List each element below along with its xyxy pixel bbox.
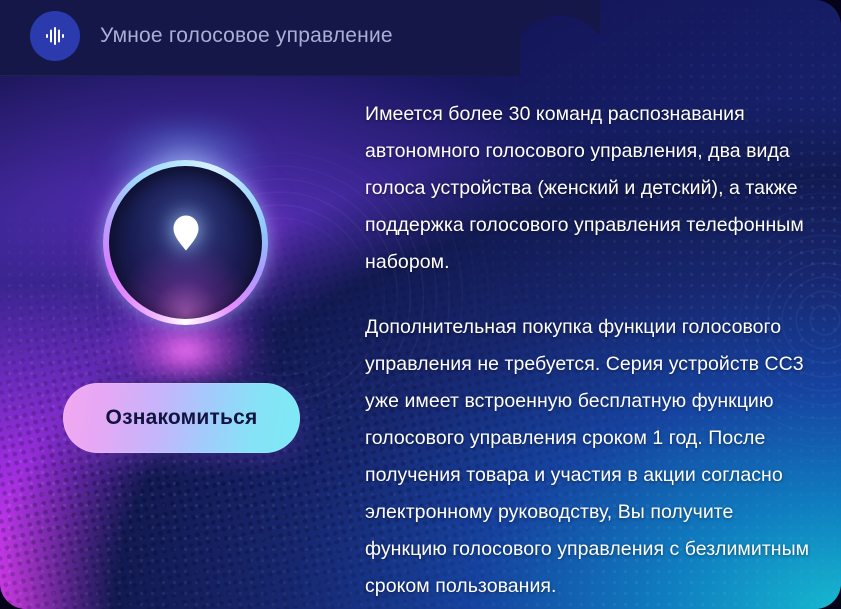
sound-wave-icon: [30, 11, 80, 61]
voice-control-promo-card: Умное голосовое управление Ознакомиться …: [0, 0, 841, 609]
paragraph-1: Имеется более 30 команд распознавания ав…: [365, 96, 817, 281]
page-title: Умное голосовое управление: [100, 24, 393, 48]
voice-assistant-pin-icon: [172, 214, 200, 252]
paragraph-2: Дополнительная покупка функции голосовог…: [365, 309, 817, 605]
voice-assistant-orb[interactable]: [103, 160, 268, 325]
body-copy: Имеется более 30 команд распознавания ав…: [365, 96, 817, 605]
header: Умное голосовое управление: [30, 11, 393, 61]
learn-more-button[interactable]: Ознакомиться: [63, 383, 300, 453]
